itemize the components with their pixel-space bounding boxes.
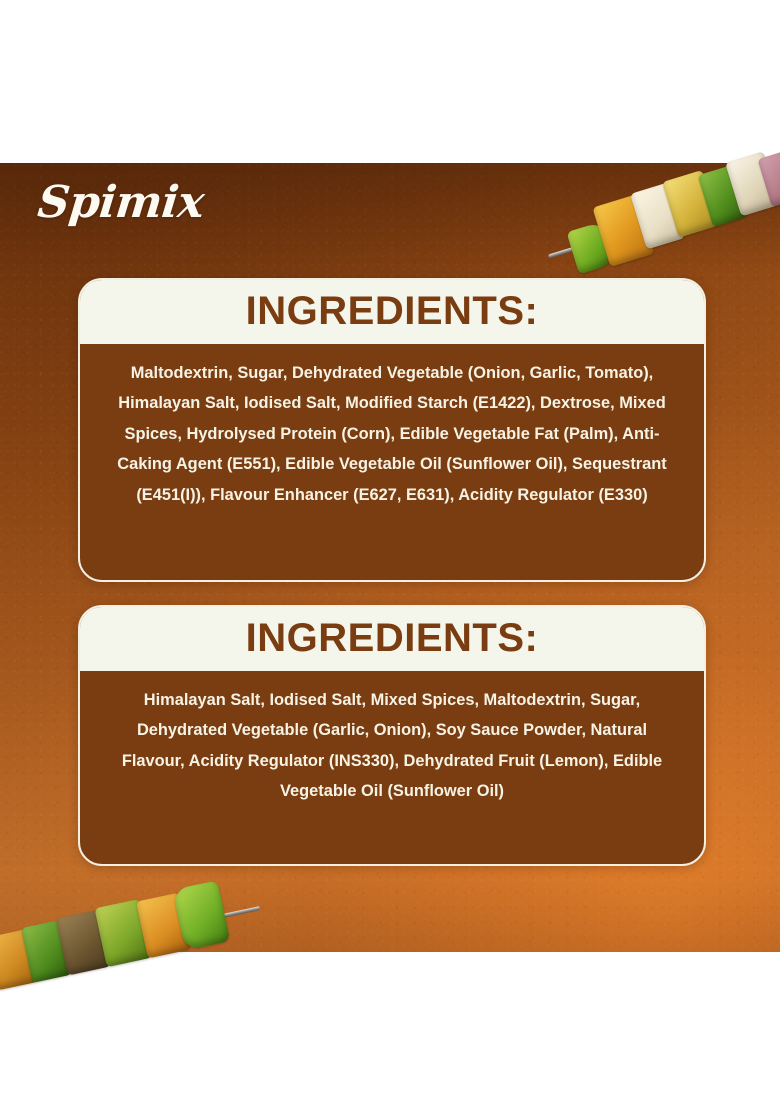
- ingredients-card-1-heading: INGREDIENTS:: [80, 289, 704, 334]
- ingredients-card-1: INGREDIENTS: Maltodextrin, Sugar, Dehydr…: [78, 278, 706, 582]
- brand-logo: Spimix: [36, 181, 206, 225]
- ingredients-card-2: INGREDIENTS: Himalayan Salt, Iodised Sal…: [78, 605, 706, 866]
- ingredients-card-1-header: INGREDIENTS:: [80, 280, 704, 344]
- ingredients-card-1-text: Maltodextrin, Sugar, Dehydrated Vegetabl…: [108, 358, 676, 511]
- ingredients-banner-page: Spimix INGREDIENTS: Maltodextrin, Sugar,…: [0, 0, 780, 1108]
- ingredients-card-2-heading: INGREDIENTS:: [80, 616, 704, 661]
- ingredients-card-2-body: Himalayan Salt, Iodised Salt, Mixed Spic…: [80, 671, 704, 827]
- ingredients-card-1-body: Maltodextrin, Sugar, Dehydrated Vegetabl…: [80, 344, 704, 531]
- ingredients-card-2-header: INGREDIENTS:: [80, 607, 704, 671]
- ingredients-card-2-text: Himalayan Salt, Iodised Salt, Mixed Spic…: [108, 685, 676, 807]
